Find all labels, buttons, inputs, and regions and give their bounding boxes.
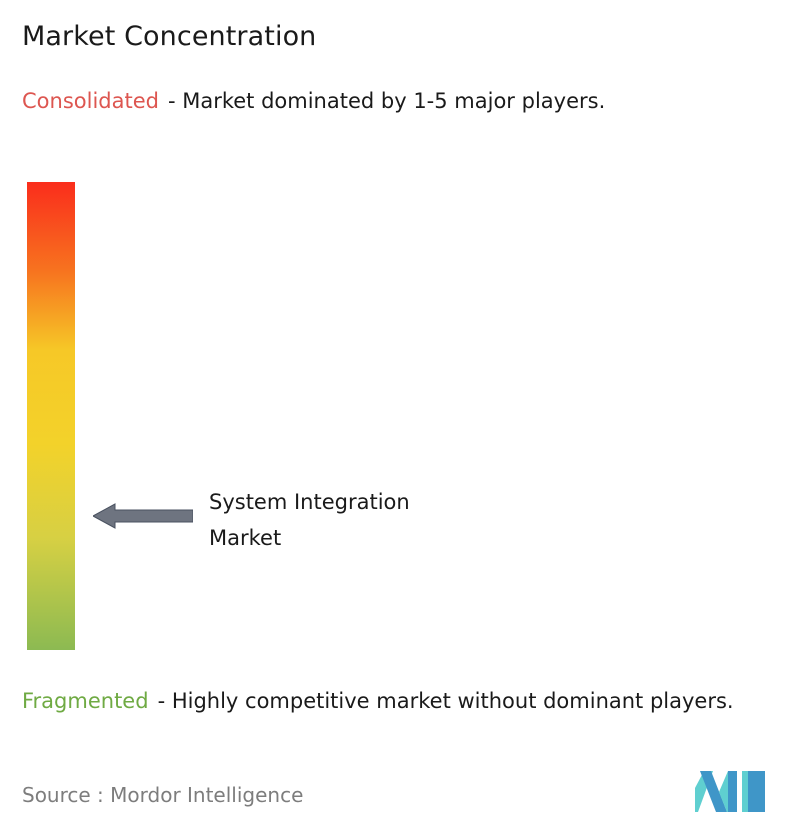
mordor-intelligence-logo [694, 768, 766, 814]
source-attribution: Source : Mordor Intelligence [22, 781, 303, 809]
caption-consolidated: Consolidated- Market dominated by 1-5 ma… [22, 86, 774, 117]
marker-label-line1: System Integration [209, 484, 539, 520]
caption-consolidated-body: - Market dominated by 1-5 major players. [168, 89, 605, 113]
page-title: Market Concentration [22, 20, 316, 54]
marker-label-line2: Market [209, 520, 539, 556]
market-concentration-infographic: Market Concentration Consolidated- Marke… [0, 0, 796, 834]
caption-fragmented-keyword: Fragmented [22, 689, 149, 713]
caption-fragmented-body: - Highly competitive market without domi… [158, 689, 734, 713]
left-arrow-icon [93, 504, 193, 528]
caption-consolidated-keyword: Consolidated [22, 89, 159, 113]
concentration-gradient-bar [27, 182, 75, 650]
marker-label: System Integration Market [209, 484, 539, 556]
marker-arrow [93, 503, 193, 529]
caption-fragmented: Fragmented- Highly competitive market wi… [22, 686, 782, 717]
